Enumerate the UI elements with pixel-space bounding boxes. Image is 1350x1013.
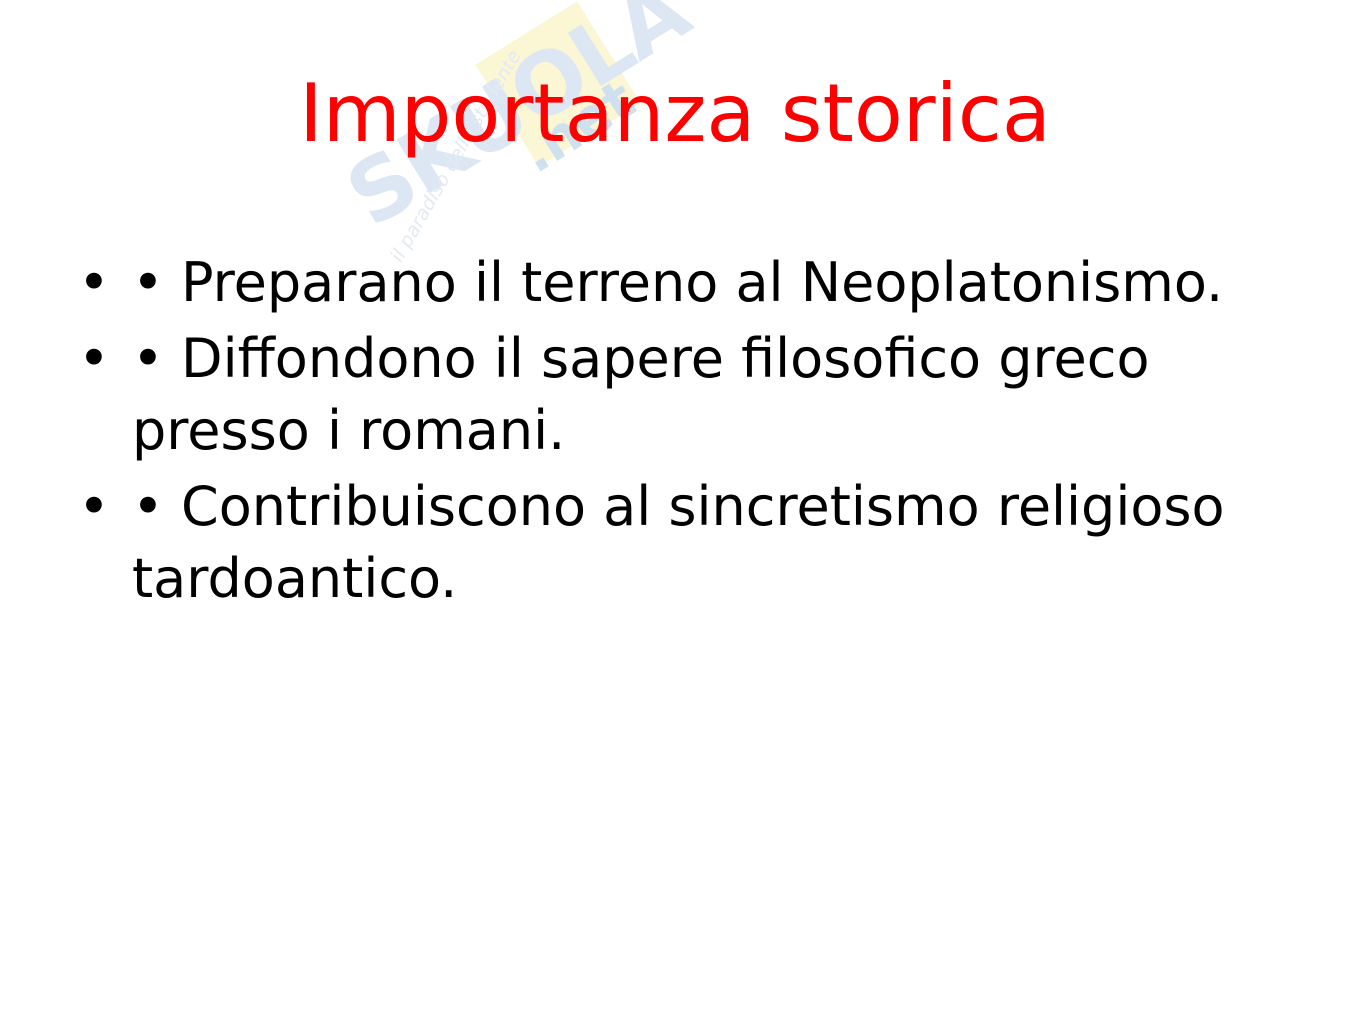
slide-canvas: SKUOLA .net il paradiso dello studente I… xyxy=(0,0,1350,1013)
list-item-label: • Contribuiscono al sincretismo religios… xyxy=(132,471,1290,615)
bullet-point-icon: • xyxy=(78,323,108,395)
slide-body-list: • • Preparano il terreno al Neoplatonism… xyxy=(0,247,1350,619)
list-item: • • Diffondono il sapere filosofico grec… xyxy=(0,323,1350,467)
list-item-label: • Diffondono il sapere filosofico greco … xyxy=(132,323,1290,467)
slide-title: Importanza storica xyxy=(0,72,1350,157)
list-item: • • Contribuiscono al sincretismo religi… xyxy=(0,471,1350,615)
list-item: • • Preparano il terreno al Neoplatonism… xyxy=(0,247,1350,319)
bullet-point-icon: • xyxy=(78,471,108,543)
bullet-point-icon: • xyxy=(78,247,108,319)
list-item-label: • Preparano il terreno al Neoplatonismo. xyxy=(132,247,1290,319)
